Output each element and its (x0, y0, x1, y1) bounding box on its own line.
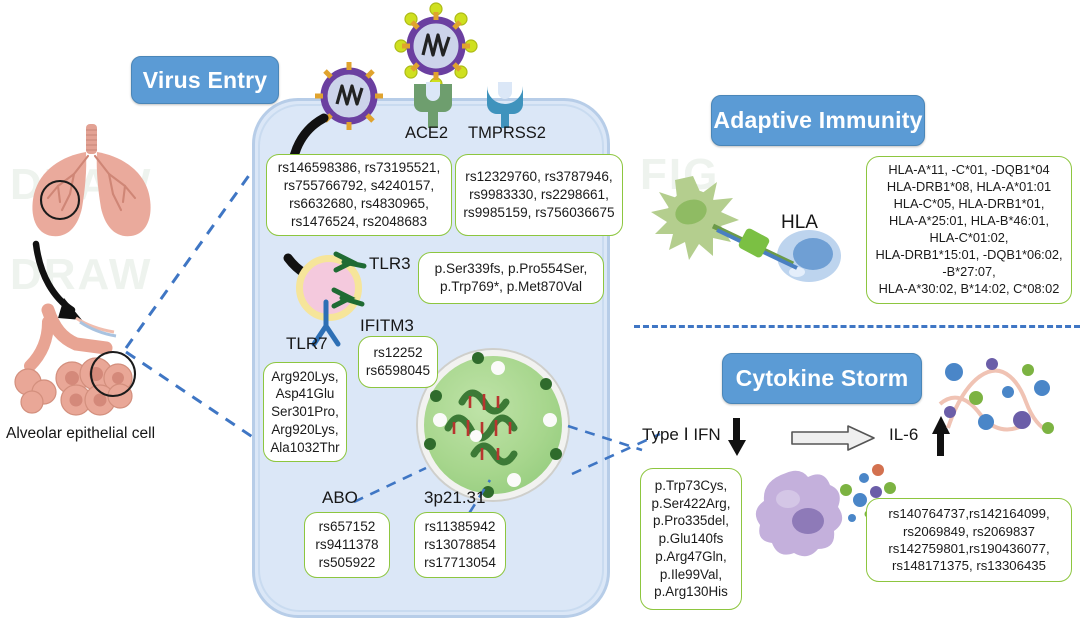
cytokine-network-icon (930, 358, 1056, 442)
variant-box-3p21: rs11385942 rs13078854 rs17713054 (414, 512, 506, 578)
section-badge-label: Virus Entry (143, 67, 268, 94)
variant-box-type1-ifn-text: p.Trp73Cys, p.Ser422Arg, p.Pro335del, p.… (652, 477, 731, 601)
variant-box-ifitm3: rs12252 rs6598045 (358, 336, 438, 388)
variant-box-ace2: rs146598386, rs73195521, rs755766792, s4… (266, 154, 452, 236)
abo-label: ABO (322, 488, 358, 508)
hla-allele-text: HLA-A*11, -C*01, -DQB1*04 HLA-DRB1*08, H… (875, 162, 1062, 297)
t-cell-icon (777, 230, 841, 282)
variant-box-il6-text: rs140764737,rs142164099, rs2069849, rs20… (888, 505, 1049, 575)
tmprss2-receptor-icon (483, 78, 529, 128)
section-badge-label: Adaptive Immunity (713, 107, 922, 134)
section-badge-label: Cytokine Storm (736, 365, 909, 392)
variant-box-type1-ifn: p.Trp73Cys, p.Ser422Arg, p.Pro335del, p.… (640, 468, 742, 610)
section-badge-cytokine-storm: Cytokine Storm (722, 353, 922, 404)
tmprss2-label: TMPRSS2 (468, 124, 546, 143)
tlr7-label: TLR7 (286, 334, 328, 354)
tlr3-label: TLR3 (369, 254, 411, 274)
variant-box-ifitm3-text: rs12252 rs6598045 (366, 344, 430, 380)
variant-box-tlr7-text: Arg920Lys, Asp41Glu Ser301Pro, Arg920Lys… (270, 368, 339, 456)
hla-label: HLA (781, 212, 818, 234)
variant-box-il6: rs140764737,rs142164099, rs2069849, rs20… (866, 498, 1072, 582)
type1-ifn-label: Type Ⅰ IFN (642, 425, 721, 445)
section-divider (634, 325, 1080, 328)
variant-box-tmprss2: rs12329760, rs3787946, rs9983330, rs2298… (455, 154, 623, 236)
ifitm3-label: IFITM3 (360, 316, 414, 336)
ace2-label: ACE2 (405, 124, 448, 143)
variant-box-tlr3-text: p.Ser339fs, p.Pro554Ser, p.Trp769*, p.Me… (435, 260, 588, 296)
cell-to-cytokine-line (568, 420, 648, 460)
locus-3p21-label: 3p21.31 (424, 488, 485, 508)
variant-box-3p21-text: rs11385942 rs13078854 rs17713054 (424, 518, 496, 572)
il6-label: IL-6 (889, 425, 918, 445)
variant-box-ace2-text: rs146598386, rs73195521, rs755766792, s4… (278, 159, 441, 231)
section-badge-virus-entry: Virus Entry (131, 56, 279, 104)
hla-allele-box: HLA-A*11, -C*01, -DQB1*04 HLA-DRB1*08, H… (866, 156, 1072, 304)
figure-canvas: DRAW DRAW FIG (0, 0, 1080, 623)
variant-box-tlr7: Arg920Lys, Asp41Glu Ser301Pro, Arg920Lys… (263, 362, 347, 462)
variant-box-abo-text: rs657152 rs9411378 rs505922 (315, 518, 378, 572)
variant-box-abo: rs657152 rs9411378 rs505922 (304, 512, 390, 578)
antigen-presentation-icon (645, 168, 875, 303)
leads-to-arrow-icon (790, 424, 876, 452)
variant-box-tlr3: p.Ser339fs, p.Pro554Ser, p.Trp769*, p.Me… (418, 252, 604, 304)
ifn-down-arrow-icon (728, 418, 746, 456)
section-badge-adaptive-immunity: Adaptive Immunity (711, 95, 925, 146)
ace2-receptor-icon (409, 78, 457, 128)
variant-box-tmprss2-text: rs12329760, rs3787946, rs9983330, rs2298… (463, 168, 614, 222)
